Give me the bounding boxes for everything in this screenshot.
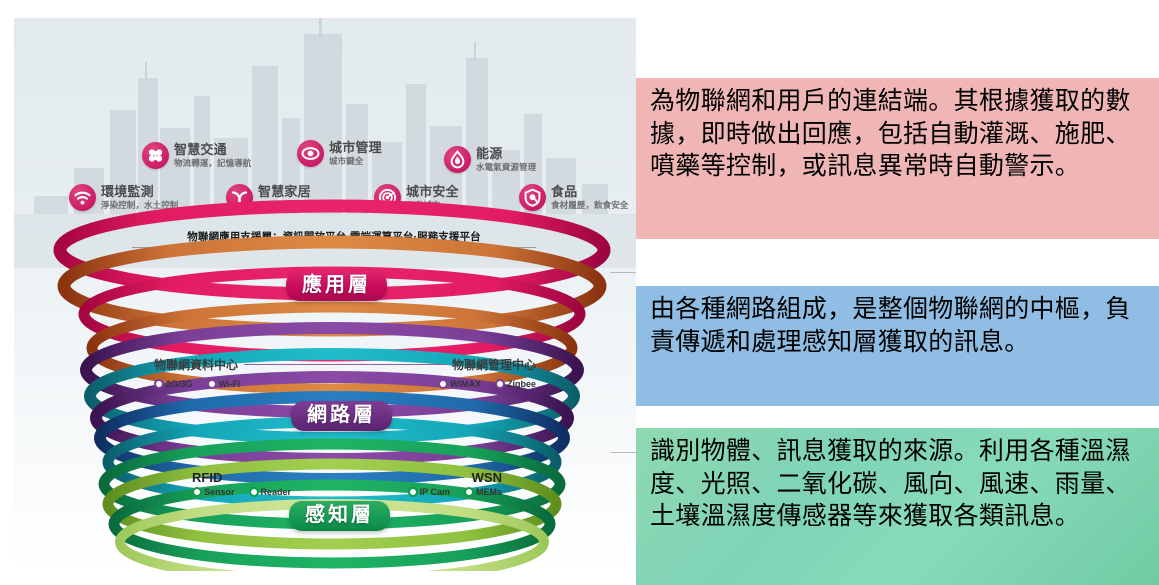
net-tag-label: 2G/3G xyxy=(166,379,193,389)
net-tag-wifi: Wi-Fi xyxy=(207,379,241,389)
net-tag-label: Wi-Fi xyxy=(219,379,241,389)
bullet-dot-icon xyxy=(495,379,505,389)
network-layer-labels: 物聯網資料中心 物聯網管理中心 2G/3G Wi-Fi xyxy=(154,356,536,389)
layer-pill-label: 應用層 xyxy=(302,274,371,296)
rfid-label: RFID xyxy=(192,470,222,485)
sensing-layer-labels: RFID WSN Sensor Reader xyxy=(192,470,502,497)
bullet-dot-icon xyxy=(408,487,418,497)
description-text: 由各種網路組成，是整個物聯網的中樞，負責傳遞和處理感知層獲取的訊息。 xyxy=(650,296,1131,356)
net-connector-line xyxy=(244,364,446,365)
bullet-dot-icon xyxy=(207,379,217,389)
layer-pill-label: 網路層 xyxy=(307,404,376,426)
sense-tag-label: IP Cam xyxy=(420,487,450,497)
layer-pill-sensing[interactable]: 感知層 xyxy=(289,501,390,531)
description-text: 為物聯網和用戶的連結端。其根據獲取的數據，即時做出回應，包括自動灌溉、施肥、噴藥… xyxy=(650,88,1131,180)
description-box-sensing: 識別物體、訊息獲取的來源。利用各種溫濕度、光照、二氧化碳、風向、風速、雨量、土壤… xyxy=(636,428,1159,585)
iot-management-center-label: 物聯網管理中心 xyxy=(452,356,536,373)
bullet-dot-icon xyxy=(249,487,259,497)
slide-canvas: 智慧交通 物流轉運，記憶導航 城市管理 城市鍵全 xyxy=(0,0,1159,585)
sense-tag-label: MEMs xyxy=(476,487,502,497)
net-tag-2g3g: 2G/3G xyxy=(154,379,193,389)
net-tag-wimax: WiMAX xyxy=(438,379,481,389)
wsn-label: WSN xyxy=(472,470,502,485)
description-box-application: 為物聯網和用戶的連結端。其根據獲取的數據，即時做出回應，包括自動灌溉、施肥、噴藥… xyxy=(636,78,1159,239)
bullet-dot-icon xyxy=(192,487,202,497)
connector-stub-network xyxy=(610,272,636,273)
sense-tag-ipcam: IP Cam xyxy=(408,487,450,497)
description-box-network: 由各種網路組成，是整個物聯網的中樞，負責傳遞和處理感知層獲取的訊息。 xyxy=(636,286,1159,406)
net-tag-label: WiMAX xyxy=(450,379,481,389)
connector-stub-sensing xyxy=(610,452,636,453)
net-tag-zigbee: Zigbee xyxy=(495,379,536,389)
bullet-dot-icon xyxy=(154,379,164,389)
net-tag-label: Zigbee xyxy=(507,379,536,389)
sense-tag-reader: Reader xyxy=(249,487,292,497)
bullet-dot-icon xyxy=(438,379,448,389)
sense-tag-sensor: Sensor xyxy=(192,487,235,497)
layer-pill-application[interactable]: 應用層 xyxy=(286,271,387,301)
sense-tag-label: Sensor xyxy=(204,487,235,497)
layer-pill-network[interactable]: 網路層 xyxy=(291,401,392,431)
bullet-dot-icon xyxy=(464,487,474,497)
description-text: 識別物體、訊息獲取的來源。利用各種溫濕度、光照、二氧化碳、風向、風速、雨量、土壤… xyxy=(650,438,1131,530)
iot-data-center-label: 物聯網資料中心 xyxy=(154,356,238,373)
layer-pill-label: 感知層 xyxy=(305,504,374,526)
iot-architecture-diagram: 智慧交通 物流轉運，記憶導航 城市管理 城市鍵全 xyxy=(14,18,636,571)
sense-tag-label: Reader xyxy=(261,487,292,497)
sense-tag-mems: MEMs xyxy=(464,487,502,497)
